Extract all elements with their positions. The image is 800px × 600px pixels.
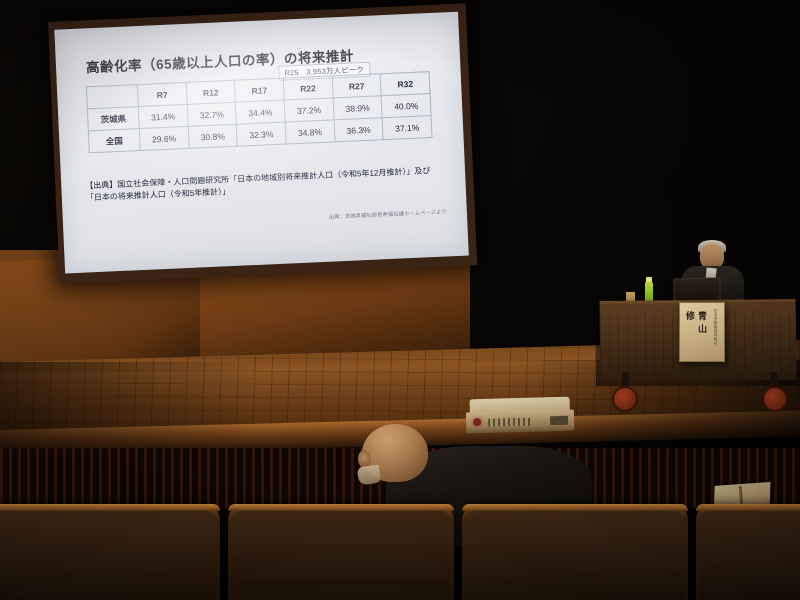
theater-seat[interactable] xyxy=(0,504,220,600)
row-label-ibaraki: 茨城県 xyxy=(87,107,139,131)
source-note: 【出典】国立社会保障・人口問題研究所「日本の地域別将来推計人口（令和5年12月推… xyxy=(85,165,438,205)
cell-zenkoku-r12: 30.8% xyxy=(188,124,238,148)
cell-ibaraki-r7: 31.4% xyxy=(138,104,188,128)
cell-zenkoku-r27: 36.3% xyxy=(334,118,384,142)
face-mask xyxy=(357,465,381,486)
source-note-small: 出典：茨城県福祉部長寿福祉課ホームページより xyxy=(329,208,447,220)
placard-subtitle-text: 日本労働者協同組合 xyxy=(714,309,718,345)
presentation-slide: 高齢化率（65歳以上人口の率）の将来推計 R25 3,953万人ピーク R7 R… xyxy=(54,12,468,274)
cell-ibaraki-r22: 37.2% xyxy=(284,98,334,122)
table-corner-cell xyxy=(86,85,138,109)
desk-wheel-right xyxy=(762,386,788,412)
seat-top-rail xyxy=(462,504,688,511)
aging-rate-table: R7 R12 R17 R22 R27 R32 茨城県 31.4% 32.7% 3… xyxy=(86,71,433,153)
projection-screen: 高齢化率（65歳以上人口の率）の将来推計 R25 3,953万人ピーク R7 R… xyxy=(54,12,468,274)
cell-ibaraki-r17: 34.4% xyxy=(236,100,286,124)
seat-cushion xyxy=(0,510,217,600)
seat-top-rail xyxy=(0,504,220,511)
name-placard: 青山 修 日本労働者協同組合 xyxy=(679,302,725,362)
seat-cushion xyxy=(699,510,800,600)
seat-cushion xyxy=(465,510,685,600)
theater-seat[interactable] xyxy=(696,504,800,600)
seat-top-rail xyxy=(696,504,800,511)
theater-seat[interactable] xyxy=(462,504,688,600)
lecture-hall-scene: 高齢化率（65歳以上人口の率）の将来推計 R25 3,953万人ピーク R7 R… xyxy=(0,0,800,600)
seat-cushion xyxy=(231,510,451,600)
placard-name-text: 青山 修 xyxy=(692,311,708,361)
projection-screen-frame: 高齢化率（65歳以上人口の率）の将来推計 R25 3,953万人ピーク R7 R… xyxy=(48,3,477,283)
cell-ibaraki-r27: 38.9% xyxy=(333,96,383,120)
theater-seat[interactable] xyxy=(228,504,454,600)
cell-ibaraki-r32: 40.0% xyxy=(381,94,431,118)
column-header-r17: R17 xyxy=(235,78,285,102)
cell-zenkoku-r32: 37.1% xyxy=(382,116,432,140)
seat-top-rail xyxy=(228,504,454,511)
cell-zenkoku-r22: 34.8% xyxy=(285,120,335,144)
row-label-zenkoku: 全国 xyxy=(88,129,140,153)
stage-shadow-left xyxy=(0,362,260,452)
column-header-r22: R22 xyxy=(283,76,333,100)
column-header-r12: R12 xyxy=(186,80,236,104)
cell-zenkoku-r17: 32.3% xyxy=(237,122,287,146)
column-header-r32: R32 xyxy=(380,72,430,96)
cell-zenkoku-r7: 29.6% xyxy=(139,126,189,150)
cell-ibaraki-r12: 32.7% xyxy=(187,102,237,126)
column-header-r7: R7 xyxy=(137,82,187,106)
column-header-r27: R27 xyxy=(332,74,382,98)
desk-wheel-left xyxy=(612,386,638,412)
